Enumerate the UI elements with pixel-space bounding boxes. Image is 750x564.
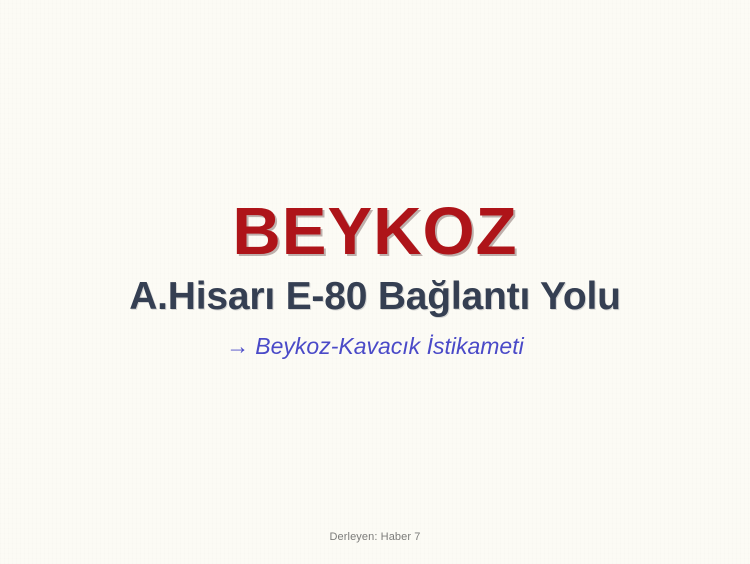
subtitle: A.Hisarı E-80 Bağlantı Yolu (0, 277, 750, 318)
direction-label: Beykoz-Kavacık İstikameti (255, 333, 523, 359)
title-block: BEYKOZ A.Hisarı E-80 Bağlantı Yolu →Beyk… (0, 198, 750, 359)
direction-line: →Beykoz-Kavacık İstikameti (0, 334, 750, 359)
presentation-slide: BEYKOZ A.Hisarı E-80 Bağlantı Yolu →Beyk… (0, 0, 750, 564)
credit-footer: Derleyen: Haber 7 (0, 531, 750, 543)
arrow-right-icon: → (226, 333, 249, 359)
page-title: BEYKOZ (0, 198, 750, 265)
